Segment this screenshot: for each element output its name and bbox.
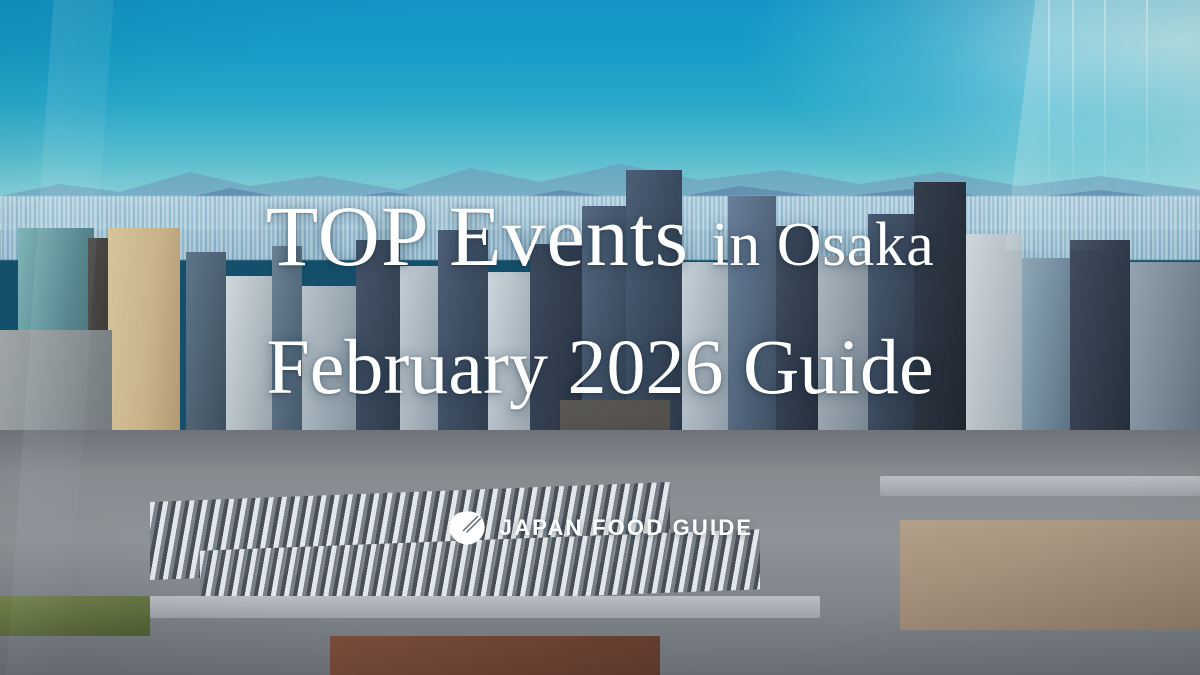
banner-image: TOP Events in Osaka February 2026 Guide … [0, 0, 1200, 675]
brand-logo-text: JAPAN FOOD GUIDE [500, 515, 754, 541]
brand-logo: JAPAN FOOD GUIDE [0, 508, 1200, 548]
bowl-chopsticks-icon [447, 508, 487, 548]
black-tower-o [914, 182, 966, 472]
elevated-highway [880, 476, 1200, 496]
slim-tower-c [272, 246, 302, 460]
brown-roof-lot [330, 636, 660, 675]
white-office-b [226, 276, 272, 456]
navy-tower-a [186, 252, 226, 452]
main-road-curve [120, 596, 820, 618]
